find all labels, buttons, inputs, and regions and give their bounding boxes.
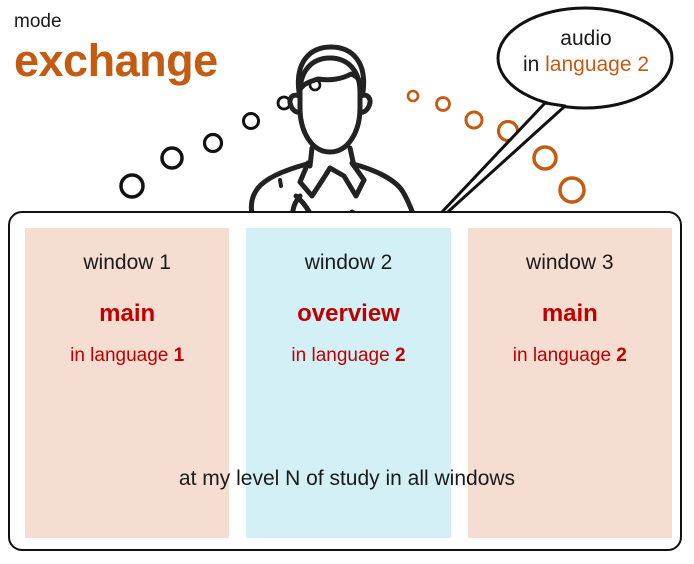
- speech-bubble-text: audio in language 2: [500, 26, 672, 79]
- speech-bubble-accent: language 2: [545, 53, 649, 76]
- window-1-language-prefix: in language: [70, 345, 174, 366]
- orange-circles-arc: [408, 91, 584, 202]
- speech-bubble-line-2: in language 2: [500, 52, 672, 78]
- window-3-title: window 3: [468, 252, 672, 273]
- window-1-language-number: 1: [174, 345, 185, 366]
- window-3-kind: main: [468, 302, 672, 326]
- window-3-language-number: 2: [616, 345, 627, 366]
- speech-bubble-line-1: audio: [500, 26, 672, 52]
- windows-panel-row: window 1 main in language 1 window 2 ove…: [25, 228, 672, 538]
- speech-bubble-prefix: in: [523, 53, 545, 76]
- black-circles-arc: [121, 80, 320, 197]
- window-2-language: in language 2: [246, 346, 450, 365]
- diagram-canvas: mode exchange: [0, 0, 694, 564]
- window-2-language-number: 2: [395, 345, 406, 366]
- window-panel-1[interactable]: window 1 main in language 1: [25, 228, 229, 538]
- window-3-language-prefix: in language: [513, 345, 617, 366]
- window-2-kind: overview: [246, 302, 450, 326]
- mode-label: mode: [14, 12, 62, 31]
- mode-value: exchange: [14, 38, 218, 83]
- window-1-language: in language 1: [25, 346, 229, 365]
- window-1-title: window 1: [25, 252, 229, 273]
- window-panel-2[interactable]: window 2 overview in language 2: [246, 228, 450, 538]
- window-2-title: window 2: [246, 252, 450, 273]
- window-3-language: in language 2: [468, 346, 672, 365]
- window-1-kind: main: [25, 302, 229, 326]
- level-caption: at my level N of study in all windows: [0, 468, 694, 489]
- window-2-language-prefix: in language: [291, 345, 395, 366]
- window-panel-3[interactable]: window 3 main in language 2: [468, 228, 672, 538]
